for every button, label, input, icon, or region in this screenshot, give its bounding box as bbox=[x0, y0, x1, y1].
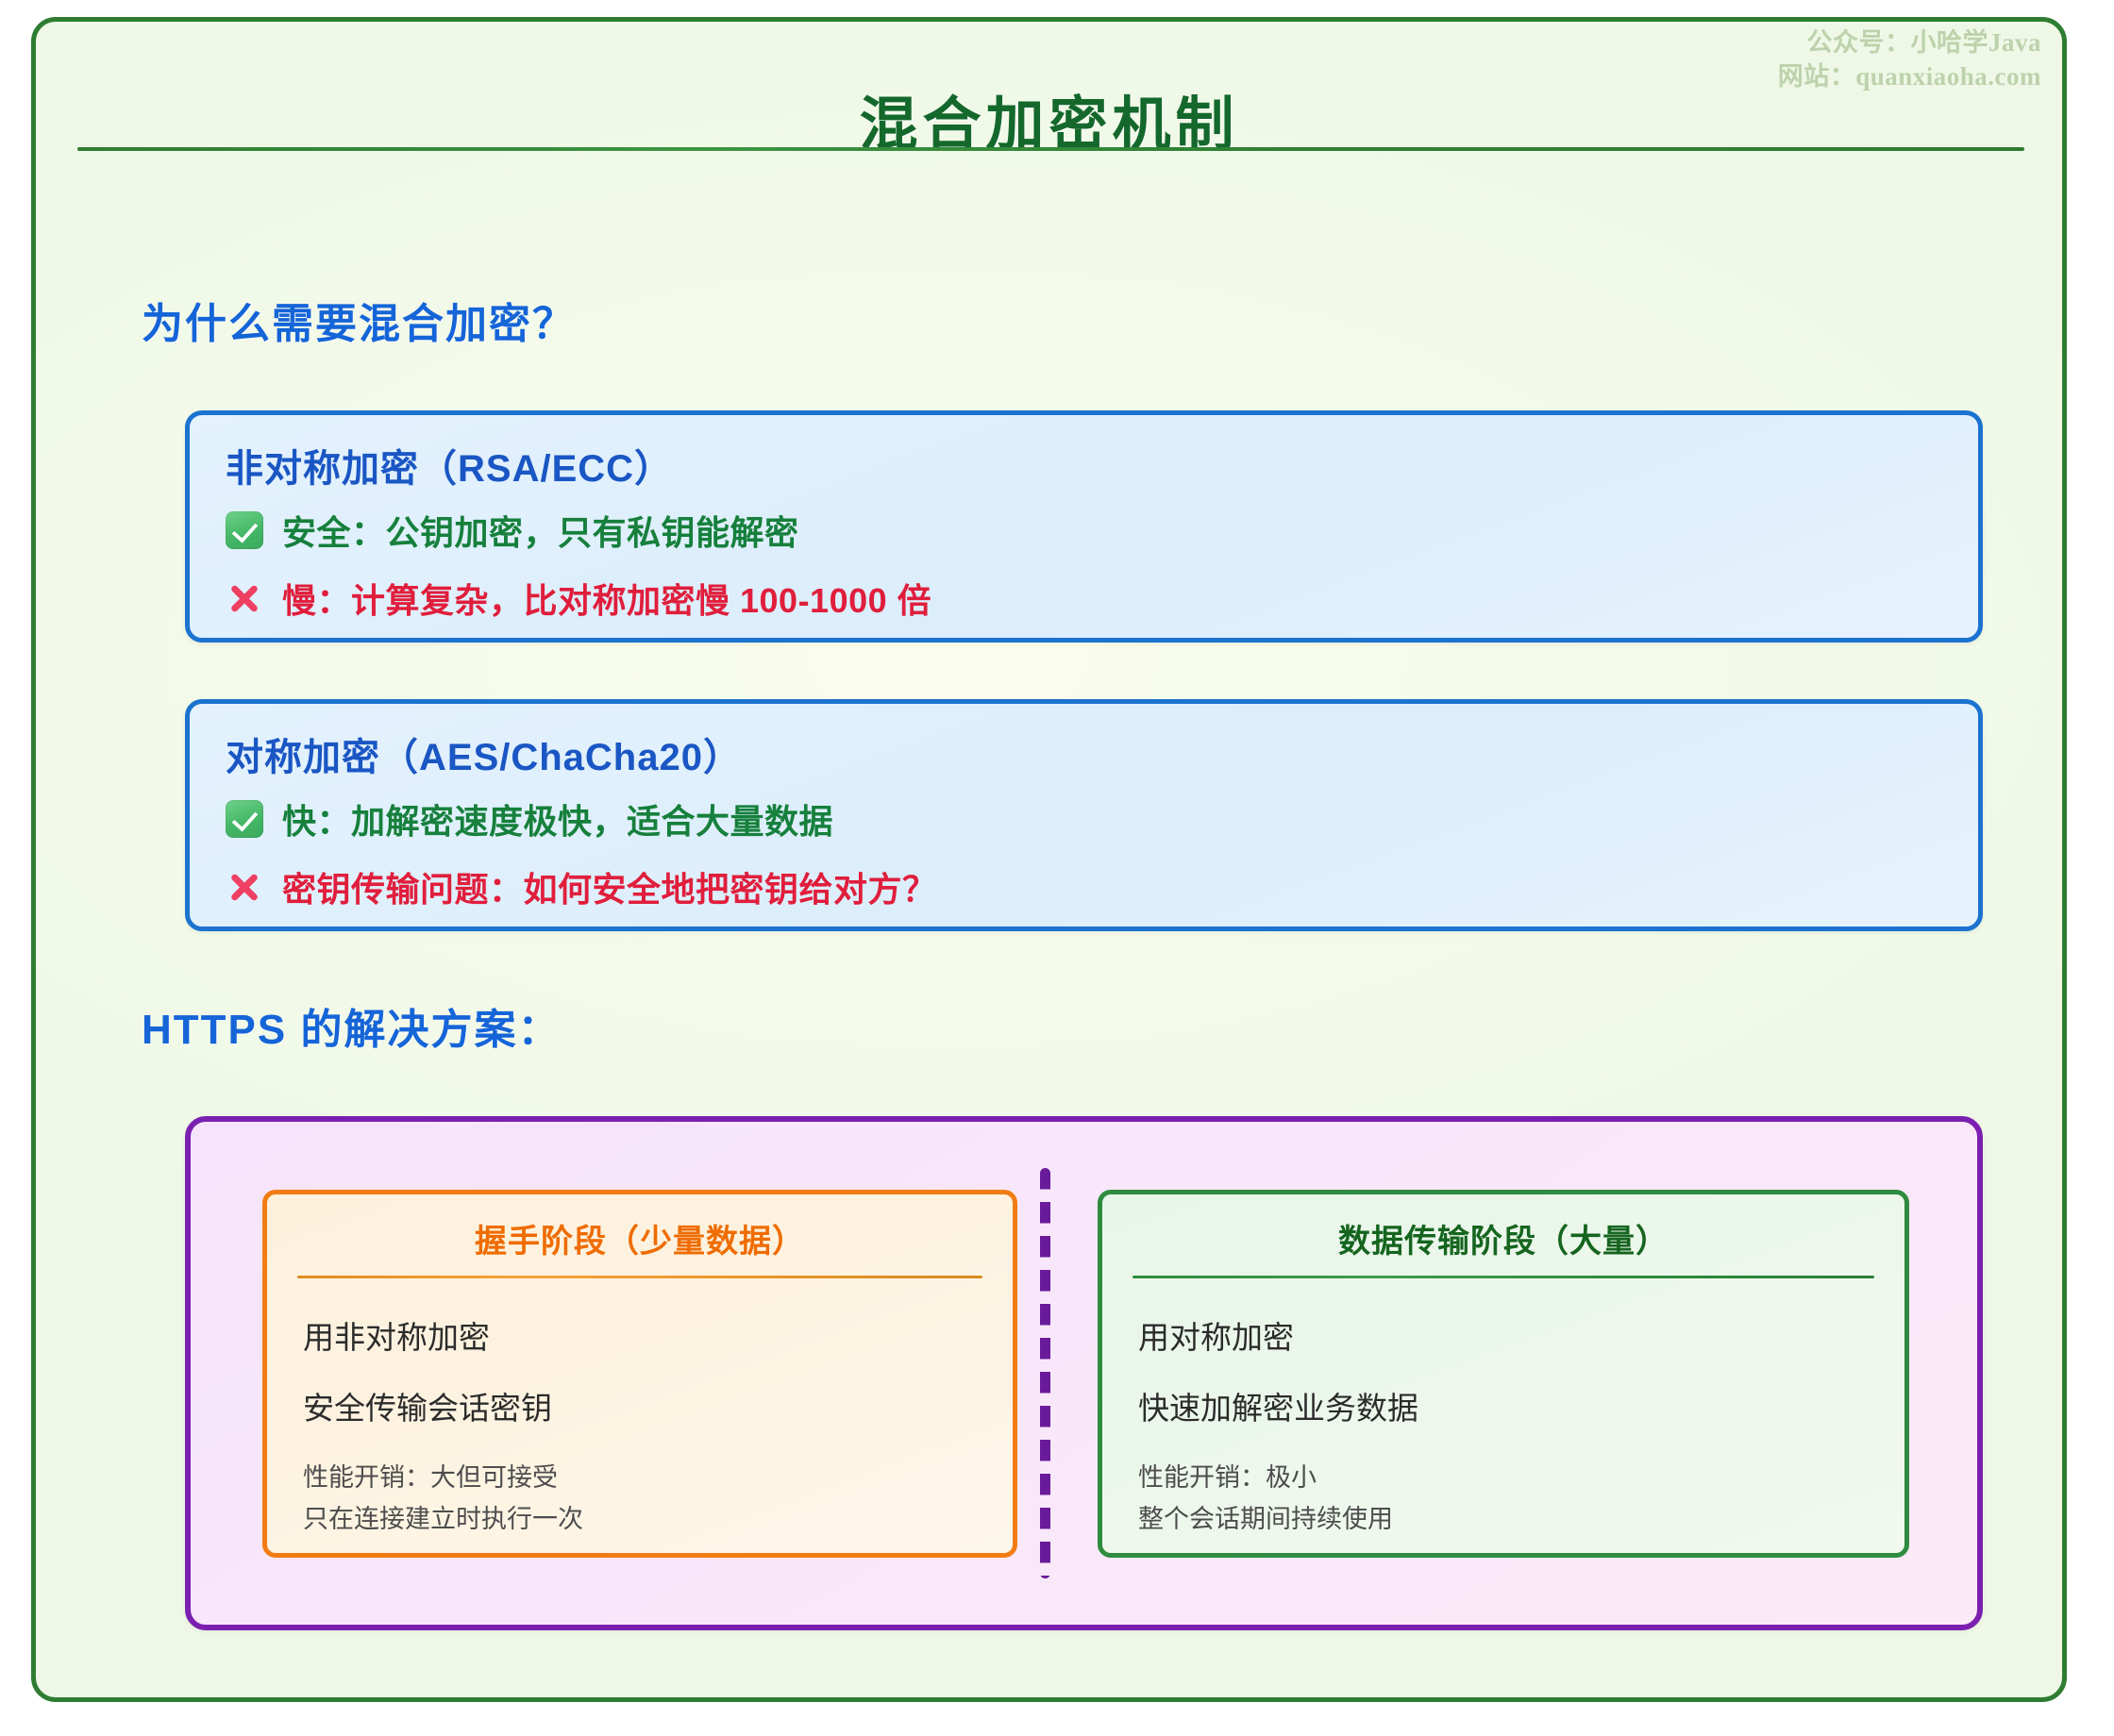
section-heading-https: HTTPS 的解决方案： bbox=[142, 995, 561, 1056]
card-handshake-phase: 握手阶段（少量数据） 用非对称加密 安全传输会话密钥 性能开销：大但可接受 只在… bbox=[262, 1190, 1017, 1558]
check-icon bbox=[226, 511, 263, 549]
watermark-line-1: 公众号：小哈学Java bbox=[1778, 25, 2041, 59]
bullet-text-pro: 快：加解密速度极快，适合大量数据 bbox=[282, 794, 833, 843]
cross-icon bbox=[226, 868, 263, 906]
phase-line-1: 用非对称加密 bbox=[303, 1312, 490, 1358]
card-symmetric-encryption: 对称加密（AES/ChaCha20） 快：加解密速度极快，适合大量数据 密钥传输… bbox=[185, 699, 1983, 931]
bullet-row-pro: 快：加解密速度极快，适合大量数据 bbox=[226, 794, 833, 843]
phase-title: 数据传输阶段（大量） bbox=[1102, 1215, 1904, 1261]
card-title: 对称加密（AES/ChaCha20） bbox=[226, 726, 742, 781]
phase-line-1: 用对称加密 bbox=[1138, 1312, 1294, 1358]
diagram-frame: 公众号：小哈学Java 网站：quanxiaoha.com 混合加密机制 为什么… bbox=[31, 17, 2067, 1702]
phase-note-1: 性能开销：大但可接受 bbox=[303, 1457, 558, 1494]
bullet-row-con: 密钥传输问题：如何安全地把密钥给对方？ bbox=[226, 862, 937, 911]
card-data-transfer-phase: 数据传输阶段（大量） 用对称加密 快速加解密业务数据 性能开销：极小 整个会话期… bbox=[1098, 1190, 1909, 1558]
cross-icon bbox=[226, 579, 263, 617]
section-heading-why: 为什么需要混合加密？ bbox=[142, 290, 576, 350]
bullet-text-pro: 安全：公钥加密，只有私钥能解密 bbox=[282, 506, 799, 555]
card-asymmetric-encryption: 非对称加密（RSA/ECC） 安全：公钥加密，只有私钥能解密 慢：计算复杂，比对… bbox=[185, 410, 1983, 643]
card-title: 非对称加密（RSA/ECC） bbox=[226, 438, 673, 492]
phase-line-2: 快速加解密业务数据 bbox=[1138, 1383, 1418, 1428]
phase-divider bbox=[297, 1276, 982, 1278]
check-icon bbox=[226, 800, 263, 838]
phase-note-1: 性能开销：极小 bbox=[1138, 1457, 1317, 1494]
title-divider bbox=[77, 147, 2024, 151]
phase-line-2: 安全传输会话密钥 bbox=[303, 1383, 552, 1428]
bullet-text-con: 慢：计算复杂，比对称加密慢 100-1000 倍 bbox=[282, 574, 931, 623]
phase-divider bbox=[1132, 1276, 1874, 1278]
phase-note-2: 只在连接建立时执行一次 bbox=[303, 1498, 583, 1535]
phase-note-2: 整个会话期间持续使用 bbox=[1138, 1498, 1393, 1535]
bullet-row-con: 慢：计算复杂，比对称加密慢 100-1000 倍 bbox=[226, 574, 931, 623]
bullet-row-pro: 安全：公钥加密，只有私钥能解密 bbox=[226, 506, 799, 555]
bullet-text-con: 密钥传输问题：如何安全地把密钥给对方？ bbox=[282, 862, 937, 911]
phase-title: 握手阶段（少量数据） bbox=[267, 1215, 1013, 1261]
phase-separator-dashed bbox=[1040, 1168, 1050, 1578]
